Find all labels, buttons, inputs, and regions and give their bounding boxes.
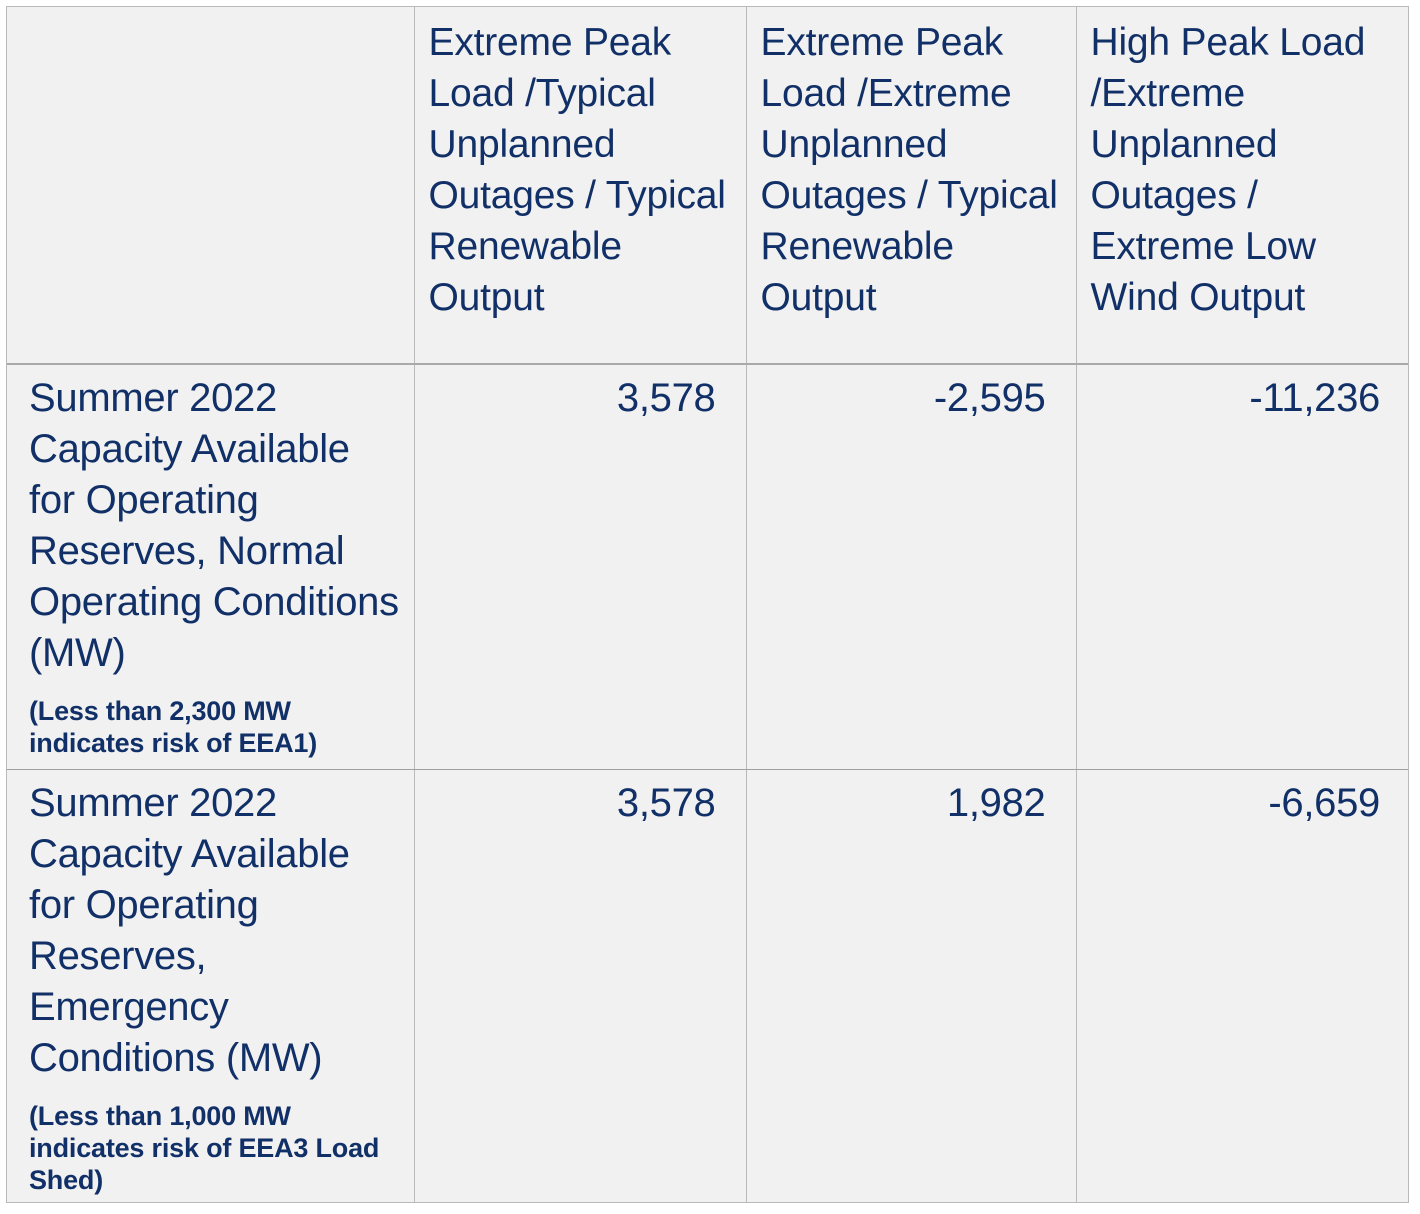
cell-normal-col1: 3,578: [414, 364, 746, 770]
cell-normal-col3: -11,236: [1076, 364, 1409, 770]
column-header-extreme-peak-typical-outages: Extreme Peak Load /Typical Unplanned Out…: [414, 7, 746, 364]
cell-normal-col2: -2,595: [746, 364, 1076, 770]
table-header: Extreme Peak Load /Typical Unplanned Out…: [7, 7, 1409, 364]
column-header-extreme-peak-extreme-outages: Extreme Peak Load /Extreme Unplanned Out…: [746, 7, 1076, 364]
header-row: Extreme Peak Load /Typical Unplanned Out…: [7, 7, 1409, 364]
column-header-high-peak-extreme-low-wind: High Peak Load /Extreme Unplanned Outage…: [1076, 7, 1409, 364]
cell-emergency-col3: -6,659: [1076, 770, 1409, 1204]
table-row: Summer 2022 Capacity Available for Opera…: [7, 364, 1409, 770]
row-label-text: Summer 2022 Capacity Available for Opera…: [29, 781, 350, 1080]
cell-emergency-col2: 1,982: [746, 770, 1076, 1204]
header-corner-empty: [7, 7, 414, 364]
row-label-note: (Less than 2,300 MW indicates risk of EE…: [29, 695, 404, 759]
cell-emergency-col1: 3,578: [414, 770, 746, 1204]
row-label-normal-operating-conditions: Summer 2022 Capacity Available for Opera…: [7, 364, 414, 770]
table-body: Summer 2022 Capacity Available for Opera…: [7, 364, 1409, 1203]
row-label-emergency-conditions: Summer 2022 Capacity Available for Opera…: [7, 770, 414, 1204]
row-label-note: (Less than 1,000 MW indicates risk of EE…: [29, 1100, 404, 1196]
summer-2022-capacity-table: Extreme Peak Load /Typical Unplanned Out…: [7, 7, 1409, 1203]
row-label-text: Summer 2022 Capacity Available for Opera…: [29, 376, 399, 675]
table-row: Summer 2022 Capacity Available for Opera…: [7, 770, 1409, 1204]
capacity-table-container: Extreme Peak Load /Typical Unplanned Out…: [6, 6, 1409, 1203]
